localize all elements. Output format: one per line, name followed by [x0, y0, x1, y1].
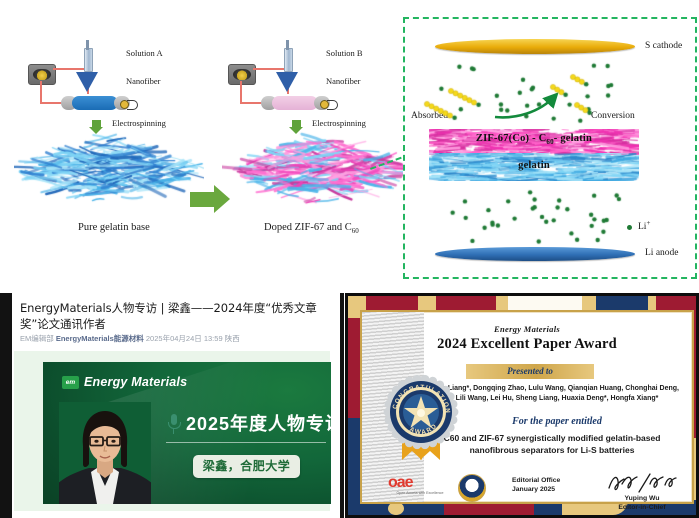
certificate-background: Energy Materials 2024 Excellent Paper Aw…	[348, 296, 696, 515]
video-thumbnail[interactable]: em Energy Materials	[43, 362, 331, 504]
editorial-office-label: Editorial Office	[512, 476, 560, 485]
certificate-paper-title: C60 and ZIF-67 synergistically modified …	[422, 432, 682, 456]
certificate-award-title: 2024 Excellent Paper Award	[362, 336, 692, 353]
video-card[interactable]: em Energy Materials	[14, 351, 330, 511]
byline-datetime: 2025年04月24日 13:59	[146, 334, 223, 343]
oae-logo-word: oae	[388, 475, 452, 490]
electrospinning-setup-left: Solution A Nanofiber Electrospinning	[28, 48, 208, 123]
caption-pure-gelatin: Pure gelatin base	[78, 222, 150, 233]
drum-crank-icon	[127, 100, 138, 110]
high-voltage-supply-icon	[28, 64, 56, 85]
award-certificate-screenshot: Energy Materials 2024 Excellent Paper Aw…	[345, 293, 699, 518]
byline-account[interactable]: EnergyMaterials能源材料	[56, 334, 144, 343]
signer-role: Editor-in-Chief	[594, 503, 690, 512]
sulfur-cathode	[435, 39, 635, 54]
nanofiber-mat-doped	[222, 130, 412, 210]
right-black-bar	[340, 293, 344, 518]
signer-name: Yuping Wu	[594, 494, 690, 503]
certificate-journal-name: Energy Materials	[362, 324, 692, 334]
caption-doped: Doped ZIF-67 and C60	[264, 222, 359, 235]
syringe-icon	[84, 48, 93, 72]
high-voltage-supply-icon-2	[228, 64, 256, 85]
scientific-figure: Solution A Nanofiber Electrospinning Sol…	[0, 0, 699, 290]
tube-vertical-left	[40, 81, 42, 103]
editorial-office-block: Editorial Office January 2025	[512, 476, 560, 494]
oae-logo-tagline: Open Access with Excellence	[388, 491, 452, 495]
journal-brand-text: Energy Materials	[84, 375, 187, 389]
deco-block-2	[436, 296, 496, 311]
tube-vertical-left-2	[240, 81, 242, 103]
label-li-ion: Li+	[638, 219, 650, 232]
byline-author: EM编辑部	[20, 334, 54, 343]
signature-block: Yuping Wu Editor-in-Chief	[594, 472, 690, 512]
label-solution-a: Solution A	[126, 48, 163, 58]
label-conversion: Conversion	[591, 111, 635, 121]
guest-name-chip: 梁鑫，合肥大学	[193, 455, 300, 478]
oae-logo-letters: oae	[388, 474, 413, 491]
byline-location: 陕西	[225, 334, 240, 343]
award-medal-icon: CONGRATULATION AWARD	[382, 372, 460, 464]
label-absorbed: Absorbed	[411, 111, 448, 121]
label-nanofiber-right: Nanofiber	[326, 76, 360, 86]
drum-crank-icon-2	[327, 100, 338, 110]
wechat-article-screenshot: EnergyMaterials人物专访 | 梁鑫——2024年度“优秀文章奖”论…	[0, 293, 344, 518]
editorial-office-date: January 2025	[512, 485, 560, 494]
article-byline: EM编辑部 EnergyMaterials能源材料 2025年04月24日 13…	[20, 333, 330, 344]
label-nanofiber-left: Nanofiber	[126, 76, 160, 86]
label-separator-gelatin: gelatin	[429, 160, 639, 171]
microphone-icon	[168, 414, 179, 434]
certificate-body: Energy Materials 2024 Excellent Paper Aw…	[360, 310, 694, 504]
for-paper-entitled-label: For the paper entitled	[432, 416, 682, 427]
process-arrow	[190, 185, 230, 214]
label-s-cathode: S cathode	[645, 41, 682, 51]
label-separator-doped: ZIF-67(Co) - C60- gelatin	[429, 133, 639, 146]
battery-cell-panel: S cathode Li anode Li+ ZIF-67(Co) - C60-…	[403, 17, 697, 279]
legend-ion-sup: +	[646, 219, 650, 227]
sep-top-sub: 60	[546, 138, 553, 146]
syringe-plunger-icon	[86, 40, 89, 50]
guest-name-text: 梁鑫，合肥大学	[193, 455, 300, 478]
signature-icon	[606, 472, 678, 494]
syringe-icon-2	[284, 48, 293, 72]
oae-logo: oae Open Access with Excellence	[388, 475, 452, 495]
caption-doped-sub: 60	[352, 227, 359, 235]
interviewee-portrait	[59, 402, 151, 504]
label-electrospinning-right: Electrospinning	[312, 118, 366, 128]
label-electrospinning-left: Electrospinning	[112, 118, 166, 128]
portrait-illustration	[59, 402, 151, 504]
secondary-seal-icon	[458, 474, 486, 502]
article-title: EnergyMaterials人物专访 | 梁鑫——2024年度“优秀文章奖”论…	[20, 300, 330, 332]
caption-doped-main: Doped ZIF-67 and C	[264, 222, 352, 233]
label-li-anode: Li anode	[645, 248, 679, 258]
sep-top-post: - gelatin	[554, 133, 592, 144]
video-headline: 2025年度人物专访	[186, 410, 331, 436]
certificate-authors: Xin Liang*, Dongqing Zhao, Lulu Wang, Qi…	[432, 384, 682, 403]
collector-drum-right	[272, 96, 318, 110]
legend-ion-dot	[627, 225, 632, 230]
headline-divider	[166, 442, 326, 443]
taylor-cone-icon-2	[276, 72, 298, 92]
conversion-arrow-icon	[493, 91, 573, 121]
label-solution-b: Solution B	[326, 48, 363, 58]
em-logo-icon: em	[62, 376, 79, 389]
taylor-cone-icon	[76, 72, 98, 92]
syringe-plunger-icon-2	[286, 40, 289, 50]
presented-to-label: Presented to	[466, 364, 594, 379]
left-black-bar	[0, 293, 12, 518]
lithium-anode	[435, 247, 635, 261]
screenshot-root: Solution A Nanofiber Electrospinning Sol…	[0, 0, 699, 518]
electrospinning-setup-right: Solution B Nanofiber Electrospinning	[228, 48, 408, 123]
sep-top-pre: ZIF-67(Co) - C	[476, 133, 546, 144]
collector-drum-left	[72, 96, 118, 110]
nanofiber-mat-pure-gelatin	[14, 130, 204, 210]
